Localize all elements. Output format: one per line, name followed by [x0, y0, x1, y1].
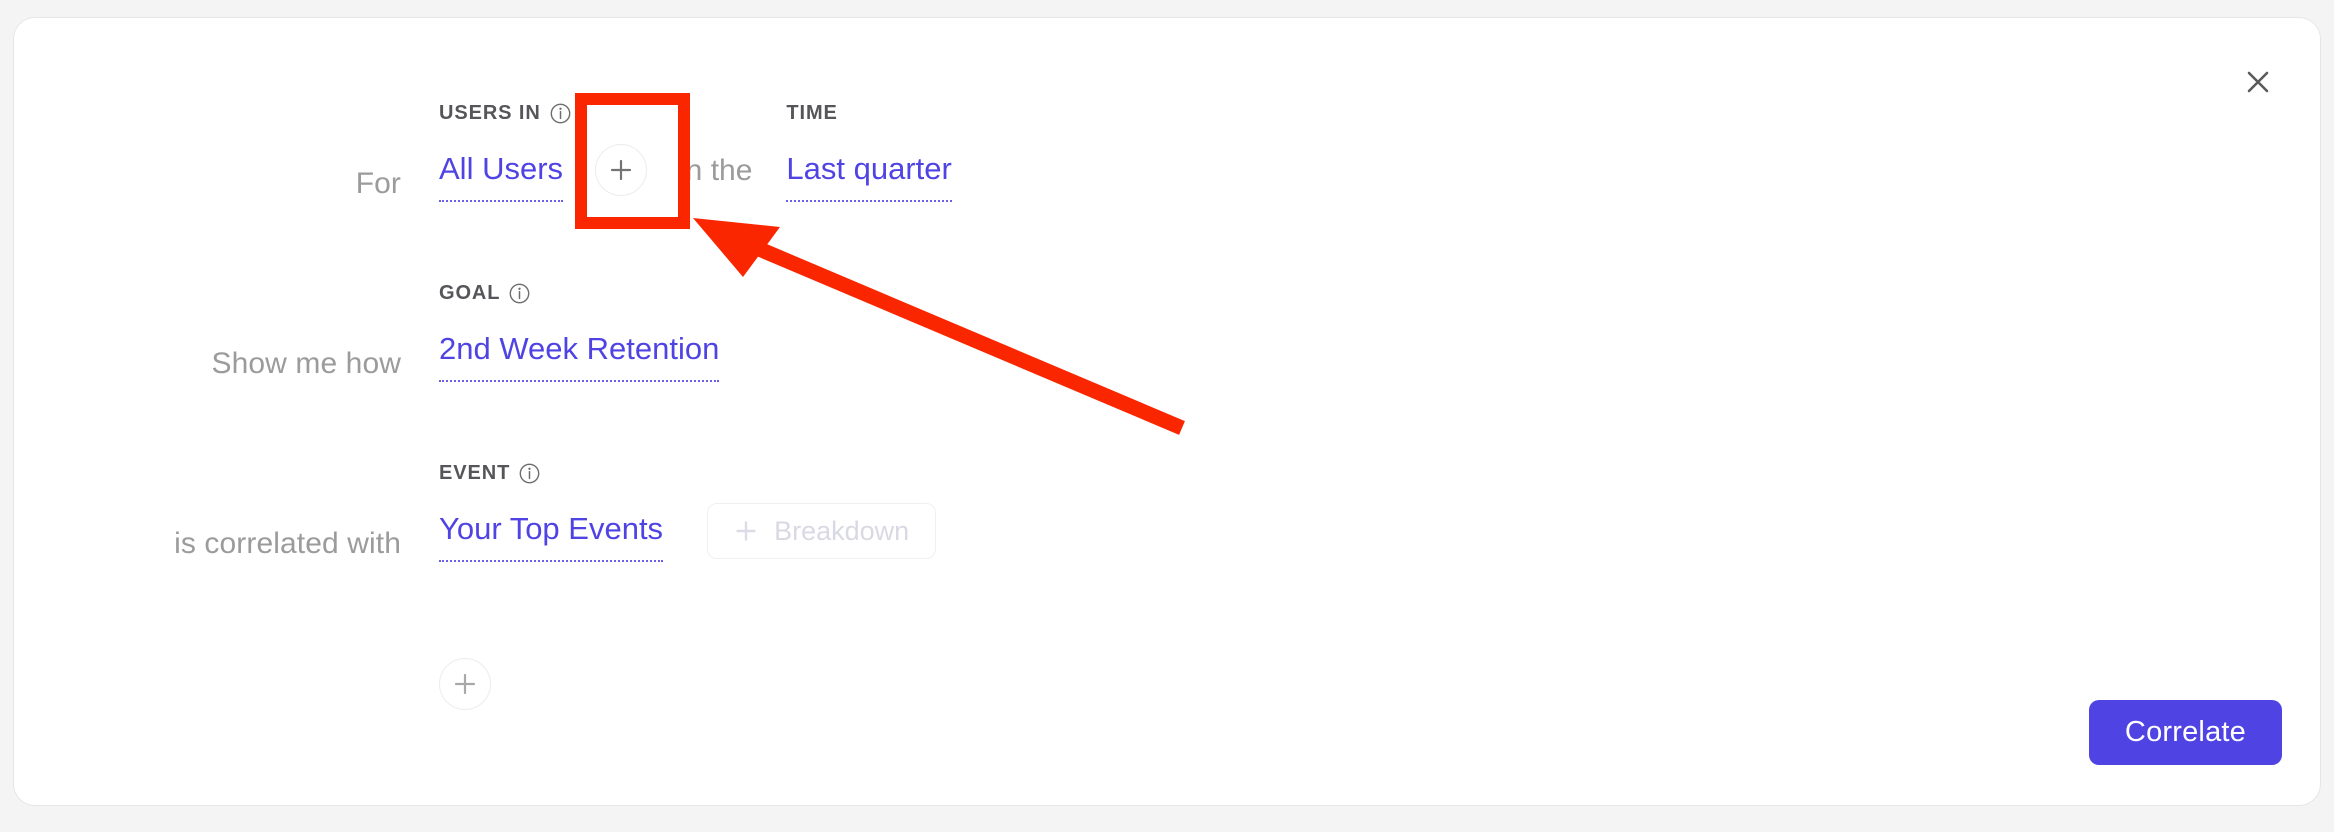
connector-in-the: in the	[679, 153, 752, 202]
query-row-users: For USERS IN All Users	[14, 138, 952, 202]
query-row-event: is correlated with EVENT Your Top Event	[14, 498, 936, 562]
time-field-group: TIME Last quarter	[786, 150, 951, 202]
close-icon	[2243, 67, 2273, 97]
screen-root: For USERS IN All Users	[0, 0, 2334, 832]
row-phrase-show-me-how: Show me how	[14, 346, 439, 382]
users-in-label-wrap: USERS IN	[439, 102, 571, 125]
breakdown-label: Breakdown	[774, 516, 909, 547]
info-icon[interactable]	[509, 283, 530, 304]
info-icon[interactable]	[519, 463, 540, 484]
goal-value[interactable]: 2nd Week Retention	[439, 330, 719, 382]
goal-label-wrap: GOAL	[439, 282, 530, 305]
goal-label: GOAL	[439, 282, 500, 305]
event-label: EVENT	[439, 462, 510, 485]
info-icon[interactable]	[550, 103, 571, 124]
plus-icon	[452, 671, 478, 697]
correlation-query-card: For USERS IN All Users	[13, 17, 2321, 806]
query-row-goal: Show me how GOAL 2nd Week Retention	[14, 318, 719, 382]
event-label-wrap: EVENT	[439, 462, 540, 485]
add-query-step-button[interactable]	[439, 658, 491, 710]
plus-icon	[734, 519, 758, 543]
row-phrase-is-correlated-with: is correlated with	[14, 526, 439, 562]
users-in-value[interactable]: All Users	[439, 150, 563, 202]
users-in-field-group: USERS IN All Users	[439, 150, 563, 202]
correlate-button[interactable]: Correlate	[2089, 700, 2282, 765]
time-value[interactable]: Last quarter	[786, 150, 951, 202]
time-label: TIME	[786, 102, 837, 125]
event-value[interactable]: Your Top Events	[439, 510, 663, 562]
close-button[interactable]	[2234, 58, 2282, 106]
add-users-filter-button[interactable]	[595, 144, 647, 196]
goal-field-group: GOAL 2nd Week Retention	[439, 330, 719, 382]
time-label-wrap: TIME	[786, 102, 837, 125]
event-field-group: EVENT Your Top Events	[439, 510, 663, 562]
users-in-label: USERS IN	[439, 102, 541, 125]
add-breakdown-button[interactable]: Breakdown	[707, 503, 936, 559]
plus-icon	[608, 157, 634, 183]
row-phrase-for: For	[14, 166, 439, 202]
